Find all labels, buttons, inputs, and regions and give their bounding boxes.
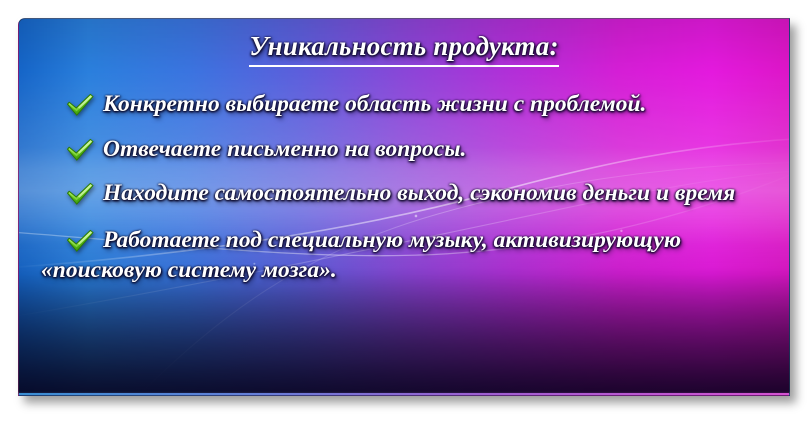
list-item: Конкретно выбираете область жизни с проб… — [41, 89, 773, 120]
green-check-icon — [65, 181, 95, 207]
list-item-text: Отвечаете письменно на вопросы. — [41, 134, 773, 165]
list-item: Работаете под специальную музыку, активи… — [41, 225, 773, 286]
list-item: Отвечаете письменно на вопросы. — [41, 134, 773, 165]
green-check-icon — [65, 137, 95, 163]
slide-title-container: Уникальность продукта: — [19, 31, 789, 67]
list-item: Находите самостоятельно выход, сэкономив… — [41, 178, 773, 209]
list-item-text: Конкретно выбираете область жизни с проб… — [41, 89, 773, 120]
list-item-text: Находите самостоятельно выход, сэкономив… — [41, 178, 773, 209]
slide-content: Уникальность продукта: — [19, 19, 789, 395]
presentation-slide: Уникальность продукта: — [18, 18, 790, 396]
list-item-text: Работаете под специальную музыку, активи… — [41, 225, 773, 286]
green-check-icon — [65, 228, 95, 254]
slide-frame: Уникальность продукта: — [18, 18, 790, 396]
green-check-icon — [65, 92, 95, 118]
slide-title: Уникальность продукта: — [249, 31, 558, 67]
bullet-list: Конкретно выбираете область жизни с проб… — [41, 89, 773, 286]
